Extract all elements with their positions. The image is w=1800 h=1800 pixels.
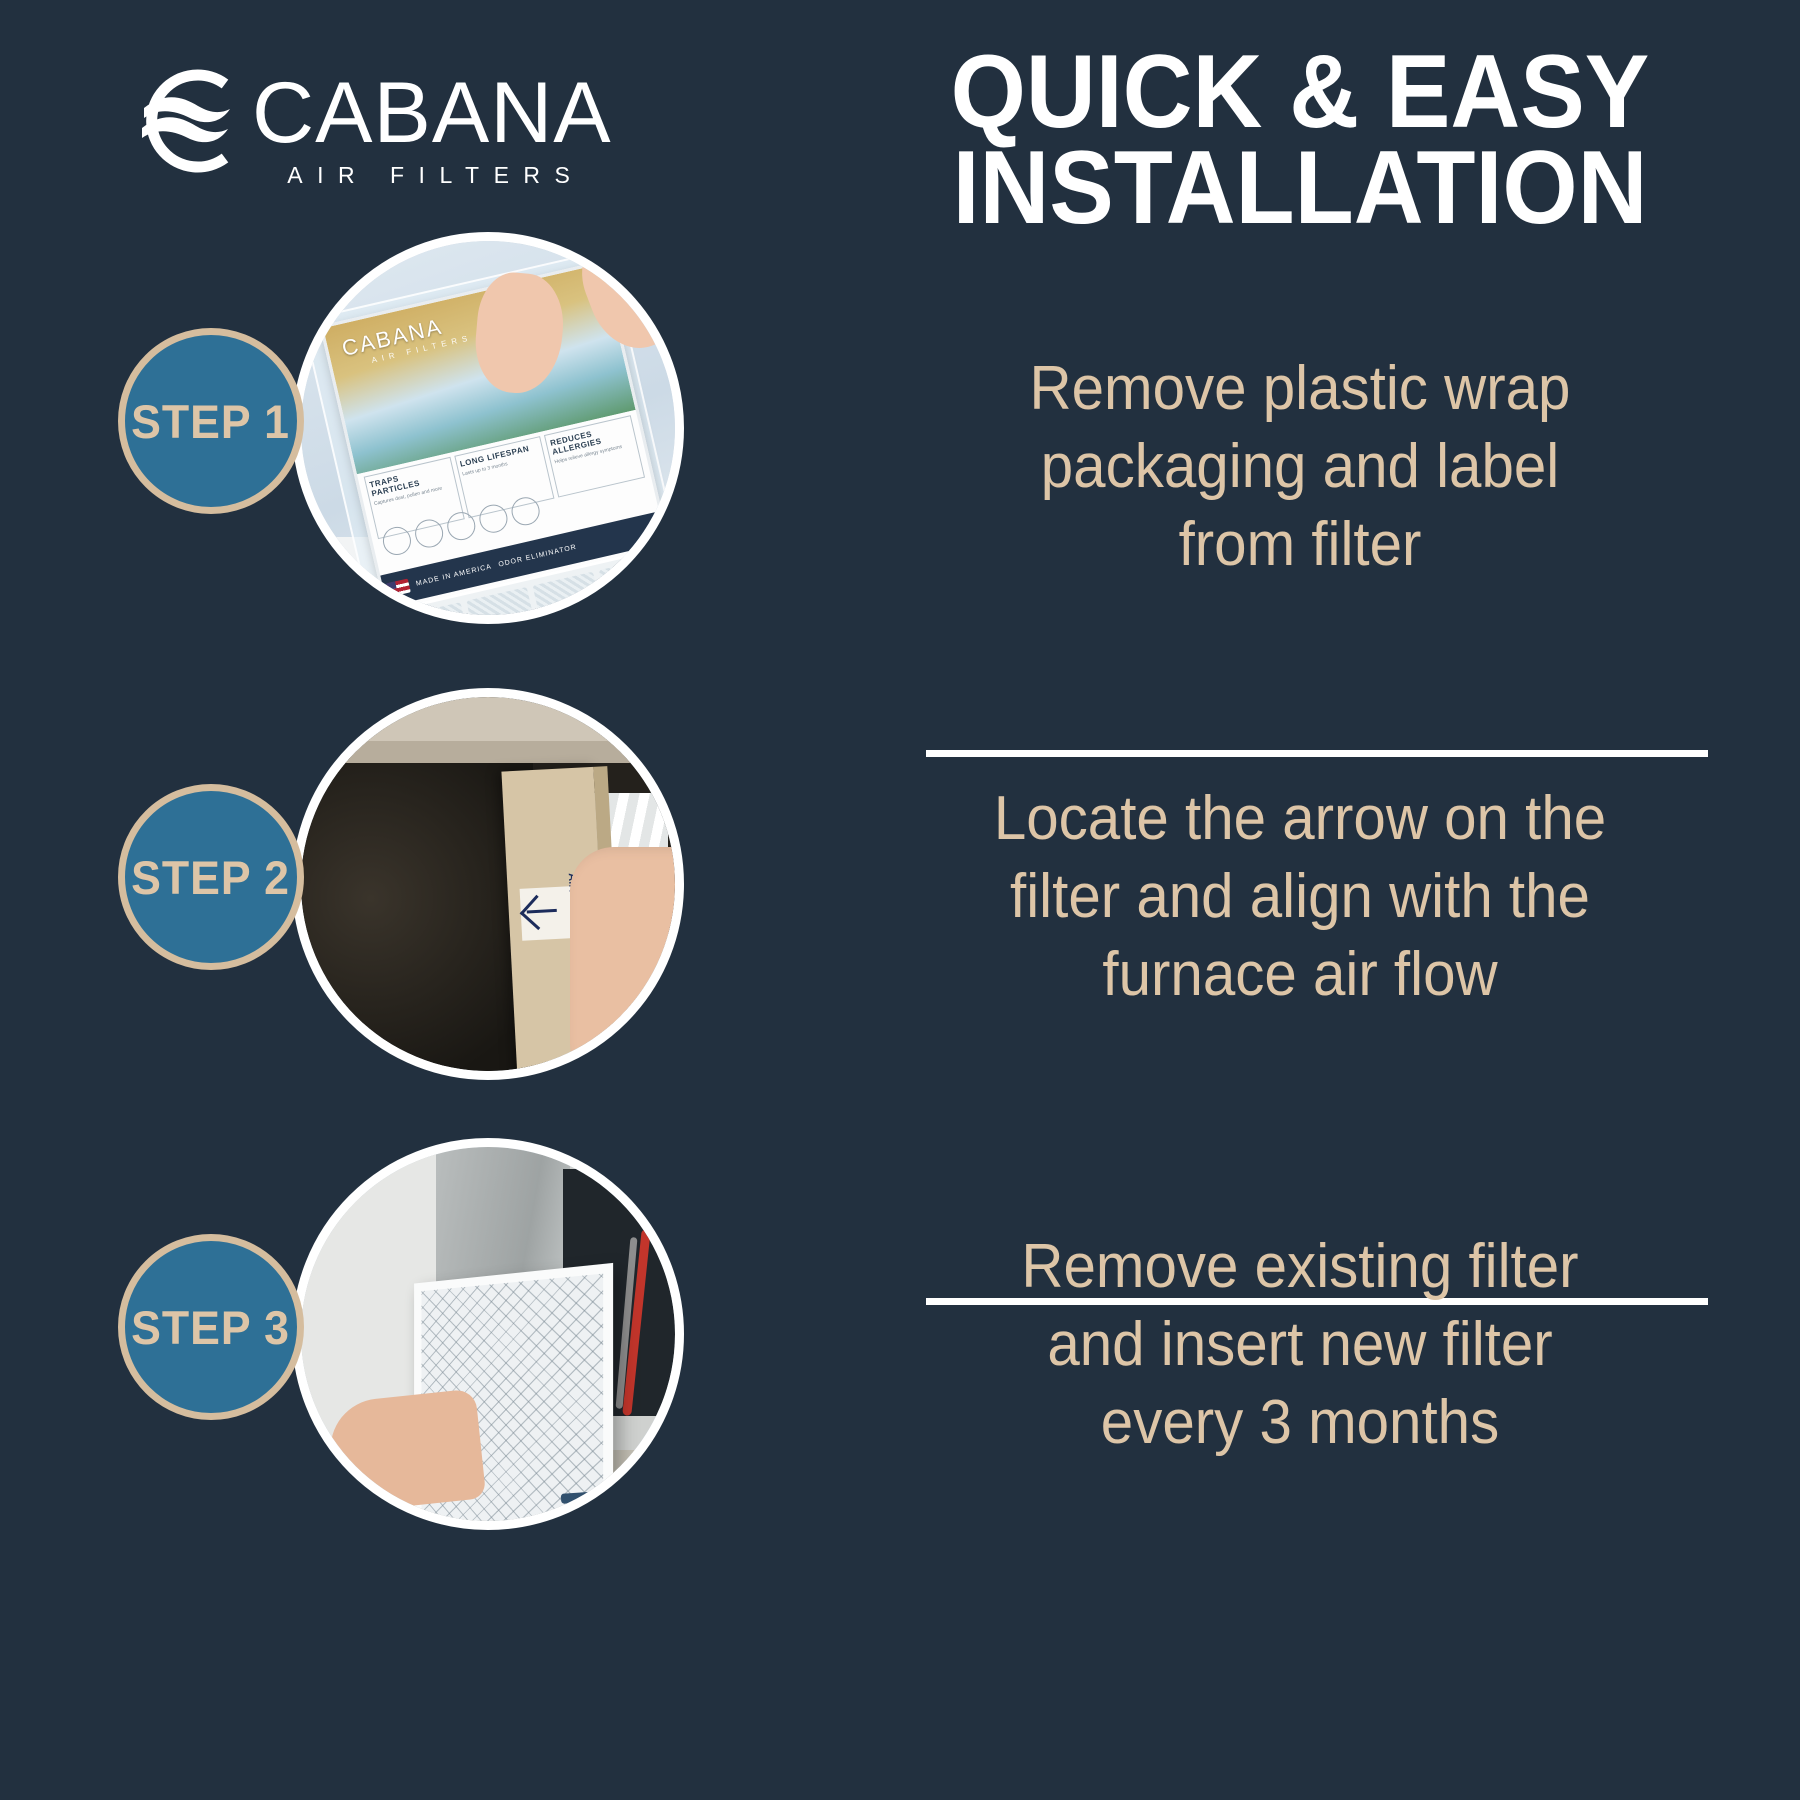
- step-1-text-line-3: from filter: [849, 506, 1751, 584]
- step-1-text-line-2: packaging and label: [849, 428, 1751, 506]
- step-3-text: Remove existing filter and insert new fi…: [849, 1228, 1751, 1462]
- infographic-page: CABANA AIR FILTERS QUICK & EASY INSTALLA…: [0, 0, 1800, 1800]
- brand-wordmark: CABANA AIR FILTERS: [252, 62, 612, 189]
- step-1-photo: CABANA AIR FILTERS TRAPS PARTICLES Captu…: [292, 232, 684, 624]
- step-1-badge-label: STEP 1: [132, 394, 291, 449]
- page-title-line-1: QUICK & EASY: [854, 44, 1747, 140]
- usa-flag-icon: [386, 579, 411, 598]
- step-1-row: CABANA AIR FILTERS TRAPS PARTICLES Captu…: [0, 232, 800, 632]
- step-3-text-line-2: and insert new filter: [849, 1306, 1751, 1384]
- step-2-badge-label: STEP 2: [132, 850, 291, 905]
- step-2-text-line-1: Locate the arrow on the: [849, 780, 1751, 858]
- bacteria-icon: [444, 509, 478, 543]
- step-2-badge: STEP 2: [118, 784, 304, 970]
- step-3-text-line-3: every 3 months: [849, 1384, 1751, 1462]
- step-3-text-line-1: Remove existing filter: [849, 1228, 1751, 1306]
- step-3-row: STEP 3: [0, 1138, 800, 1538]
- brand-name: CABANA: [252, 68, 612, 158]
- page-title-line-2: INSTALLATION: [854, 140, 1747, 236]
- step-1-text: Remove plastic wrap packaging and label …: [849, 350, 1751, 584]
- dust-icon: [380, 524, 414, 558]
- made-in-america-text: MADE IN AMERICA: [415, 563, 492, 587]
- brand-tagline: AIR FILTERS: [252, 162, 612, 189]
- page-title: QUICK & EASY INSTALLATION: [854, 44, 1747, 236]
- step-1-text-line-1: Remove plastic wrap: [849, 350, 1751, 428]
- hand-holding-filter: [570, 847, 675, 1071]
- brand-logo: CABANA AIR FILTERS: [130, 62, 612, 189]
- odor-eliminator-text: ODOR ELIMINATOR: [498, 543, 578, 568]
- wave-circle-logo-icon: [130, 62, 248, 180]
- divider-1: [926, 750, 1708, 757]
- step-3-badge-label: STEP 3: [132, 1300, 291, 1355]
- step-2-text-line-2: filter and align with the: [849, 858, 1751, 936]
- leaf-icon: [509, 494, 543, 528]
- step-3-badge: STEP 3: [118, 1234, 304, 1420]
- snowflake-icon: [477, 502, 511, 536]
- filter-package: CABANA AIR FILTERS TRAPS PARTICLES Captu…: [320, 261, 675, 615]
- pollen-icon: [412, 517, 446, 551]
- step-1-badge: STEP 1: [118, 328, 304, 514]
- step-2-row: AIR STEP 2: [0, 688, 800, 1088]
- step-2-text: Locate the arrow on the filter and align…: [849, 780, 1751, 1014]
- step-2-text-line-3: furnace air flow: [849, 936, 1751, 1014]
- step-3-photo: [292, 1138, 684, 1530]
- step-2-photo: AIR: [292, 688, 684, 1080]
